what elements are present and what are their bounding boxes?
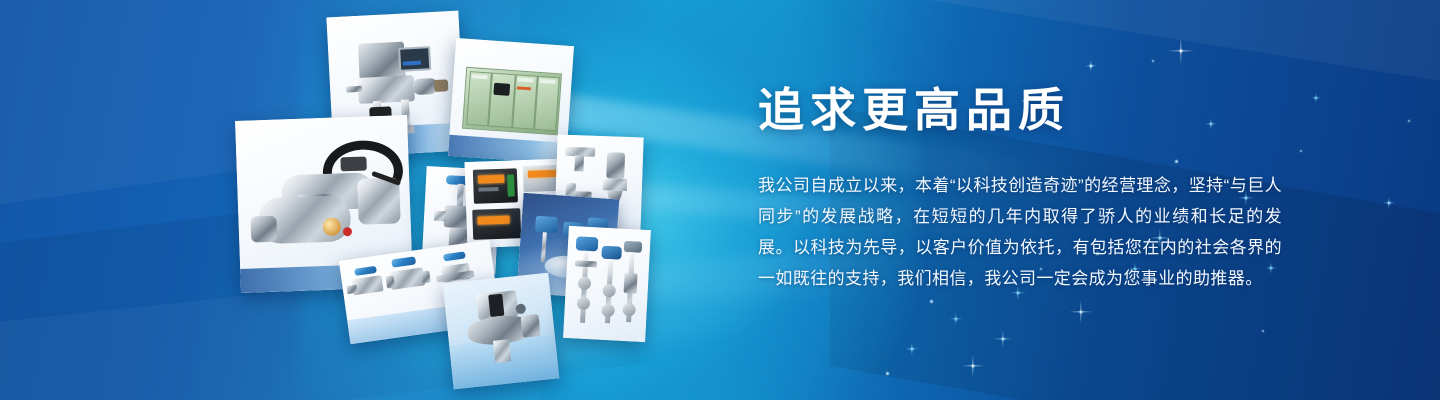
product-photo [443, 273, 559, 389]
collage-card-control-cabinet-panel[interactable] [448, 38, 574, 164]
banner-headline: 追求更高品质 [758, 84, 1070, 137]
banner-text-block: 追求更高品质 我公司自成立以来，本着“以科技创造奇迹”的经营理念，坚持“与巨人同… [758, 0, 1298, 400]
banner-description: 我公司自成立以来，本着“以科技创造奇迹”的经营理念，坚持“与巨人同步”的发展战略… [758, 170, 1282, 294]
product-photo [563, 226, 651, 342]
banner-description-text: 我公司自成立以来，本着“以科技创造奇迹”的经营理念，坚持“与巨人同步”的发展战略… [758, 170, 1282, 294]
product-photo [448, 38, 574, 164]
hero-banner: 追求更高品质 我公司自成立以来，本着“以科技创造奇迹”的经营理念，坚持“与巨人同… [0, 0, 1440, 400]
collage-card-magnetic-level-gauges[interactable] [563, 226, 651, 342]
collage-card-pressure-regulator[interactable] [443, 273, 559, 389]
product-collage [0, 0, 760, 400]
